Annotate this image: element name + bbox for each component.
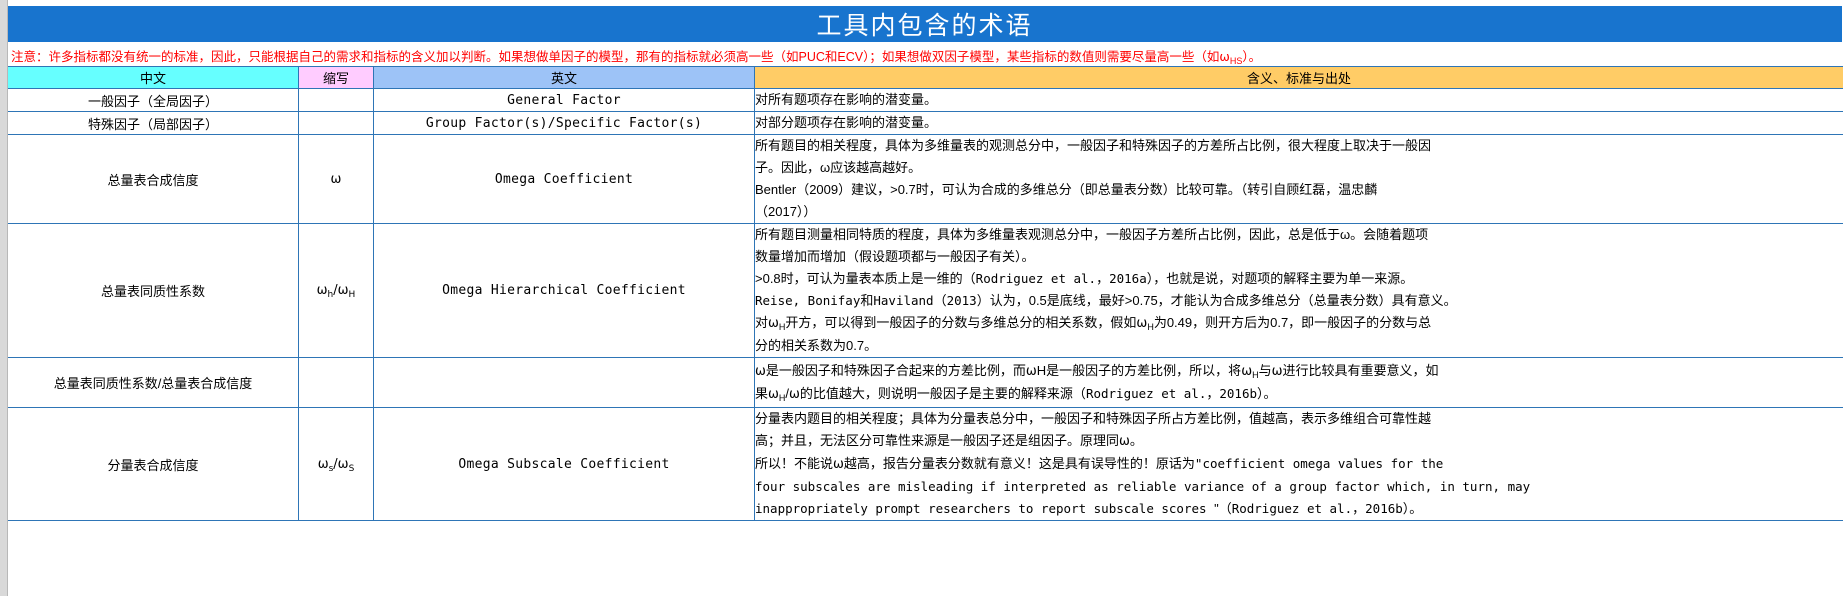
meaning-line: 高；并且，无法区分可靠性来源是一般因子还是组因子。原理同ω。 — [755, 430, 1843, 453]
meaning-line: 子。因此，ω应该越高越好。 — [755, 157, 1843, 179]
meaning-line: 对所有题项存在影响的潜变量。 — [755, 89, 1843, 111]
meaning-line: 果ωH/ω的比值越大，则说明一般因子是主要的解释来源（Rodriguez et … — [755, 383, 1843, 406]
meaning-line: 所以！不能说ω越高，报告分量表分数就有意义！这是具有误导性的！原话为"coeff… — [755, 453, 1843, 476]
cell-abbreviation[interactable]: ω — [299, 135, 374, 224]
cell-abbreviation[interactable]: ωh/ωH — [299, 224, 374, 358]
column-header-abbreviation[interactable]: 缩写 — [299, 67, 374, 89]
spreadsheet-sheet: 工具内包含的术语 注意：许多指标都没有统一的标准，因此，只能根据自己的需求和指标… — [0, 0, 1843, 596]
cell-chinese[interactable]: 总量表同质性系数 — [8, 224, 299, 358]
cell-abbreviation[interactable]: ωs/ωS — [299, 408, 374, 521]
meaning-line: Reise, Bonifay和Haviland（2013）认为，0.5是底线，最… — [755, 290, 1843, 312]
table-header-row: 中文 缩写 英文 含义、标准与出处 — [8, 67, 1843, 89]
meaning-line: inappropriately prompt researchers to re… — [755, 498, 1843, 520]
meaning-line: 所有题目测量相同特质的程度，具体为多维量表观测总分中，一般因子方差所占比例，因此… — [755, 224, 1843, 246]
table-row[interactable]: 特殊因子（局部因子） Group Factor(s)/Specific Fact… — [8, 112, 1843, 135]
meaning-line: >0.8时，可认为量表本质上是一维的（Rodriguez et al.，2016… — [755, 268, 1843, 290]
table-row[interactable]: 总量表合成信度 ω Omega Coefficient 所有题目的相关程度，具体… — [8, 135, 1843, 224]
cell-meaning[interactable]: ω是一般因子和特殊因子合起来的方差比例，而ωH是一般因子的方差比例，所以，将ωH… — [755, 358, 1843, 408]
meaning-line: Bentler（2009）建议，>0.7时，可认为合成的多维总分（即总量表分数）… — [755, 179, 1843, 201]
omega-symbol: ω — [331, 172, 342, 187]
cell-meaning[interactable]: 分量表内题目的相关程度；具体为分量表总分中，一般因子和特殊因子所占方差比例，值越… — [755, 408, 1843, 521]
cell-english[interactable] — [374, 358, 755, 408]
table-row[interactable]: 总量表同质性系数 ωh/ωH Omega Hierarchical Coeffi… — [8, 224, 1843, 358]
cell-meaning[interactable]: 所有题目测量相同特质的程度，具体为多维量表观测总分中，一般因子方差所占比例，因此… — [755, 224, 1843, 358]
table-row[interactable]: 总量表同质性系数/总量表合成信度 ω是一般因子和特殊因子合起来的方差比例，而ωH… — [8, 358, 1843, 408]
meaning-line: 对ωH开方，可以得到一般因子的分数与多维总分的相关系数，假如ωH为0.49，则开… — [755, 312, 1843, 335]
cell-english[interactable]: General Factor — [374, 89, 755, 112]
cell-meaning[interactable]: 对部分题项存在影响的潜变量。 — [755, 112, 1843, 135]
column-header-chinese[interactable]: 中文 — [8, 67, 299, 89]
cell-meaning[interactable]: 对所有题项存在影响的潜变量。 — [755, 89, 1843, 112]
cell-english[interactable]: Omega Subscale Coefficient — [374, 408, 755, 521]
meaning-line: 所有题目的相关程度，具体为多维量表的观测总分中，一般因子和特殊因子的方差所占比例… — [755, 135, 1843, 157]
cell-chinese[interactable]: 分量表合成信度 — [8, 408, 299, 521]
cell-english[interactable]: Omega Coefficient — [374, 135, 755, 224]
cell-abbreviation[interactable] — [299, 358, 374, 408]
meaning-line: ω是一般因子和特殊因子合起来的方差比例，而ωH是一般因子的方差比例，所以，将ωH… — [755, 360, 1843, 383]
meaning-line: 数量增加而增加（假设题项都与一般因子有关）。 — [755, 246, 1843, 268]
omega-s-symbol: ωs/ωS — [318, 457, 355, 472]
cell-chinese[interactable]: 总量表合成信度 — [8, 135, 299, 224]
omega-h-symbol: ωh/ωH — [317, 283, 356, 298]
cell-chinese[interactable]: 总量表同质性系数/总量表合成信度 — [8, 358, 299, 408]
row-header-gutter — [0, 0, 8, 596]
meaning-line: 分量表内题目的相关程度；具体为分量表总分中，一般因子和特殊因子所占方差比例，值越… — [755, 408, 1843, 430]
table-row[interactable]: 一般因子（全局因子） General Factor 对所有题项存在影响的潜变量。 — [8, 89, 1843, 112]
column-header-english[interactable]: 英文 — [374, 67, 755, 89]
meaning-line: （2017）） — [755, 201, 1843, 223]
cell-chinese[interactable]: 一般因子（全局因子） — [8, 89, 299, 112]
table-row[interactable]: 分量表合成信度 ωs/ωS Omega Subscale Coefficient… — [8, 408, 1843, 521]
meaning-line: four subscales are misleading if interpr… — [755, 476, 1843, 498]
terms-table: 中文 缩写 英文 含义、标准与出处 一般因子（全局因子） General Fac… — [7, 66, 1843, 521]
cell-english[interactable]: Group Factor(s)/Specific Factor(s) — [374, 112, 755, 135]
cell-abbreviation[interactable] — [299, 112, 374, 135]
column-header-meaning[interactable]: 含义、标准与出处 — [755, 67, 1843, 89]
page-title: 工具内包含的术语 — [7, 6, 1842, 42]
meaning-line: 对部分题项存在影响的潜变量。 — [755, 112, 1843, 134]
cell-meaning[interactable]: 所有题目的相关程度，具体为多维量表的观测总分中，一般因子和特殊因子的方差所占比例… — [755, 135, 1843, 224]
note-banner: 注意：许多指标都没有统一的标准，因此，只能根据自己的需求和指标的含义加以判断。如… — [7, 44, 1842, 66]
cell-abbreviation[interactable] — [299, 89, 374, 112]
note-text: 注意：许多指标都没有统一的标准，因此，只能根据自己的需求和指标的含义加以判断。如… — [11, 46, 1261, 65]
cell-chinese[interactable]: 特殊因子（局部因子） — [8, 112, 299, 135]
cell-english[interactable]: Omega Hierarchical Coefficient — [374, 224, 755, 358]
meaning-line: 分的相关系数为0.7。 — [755, 335, 1843, 357]
